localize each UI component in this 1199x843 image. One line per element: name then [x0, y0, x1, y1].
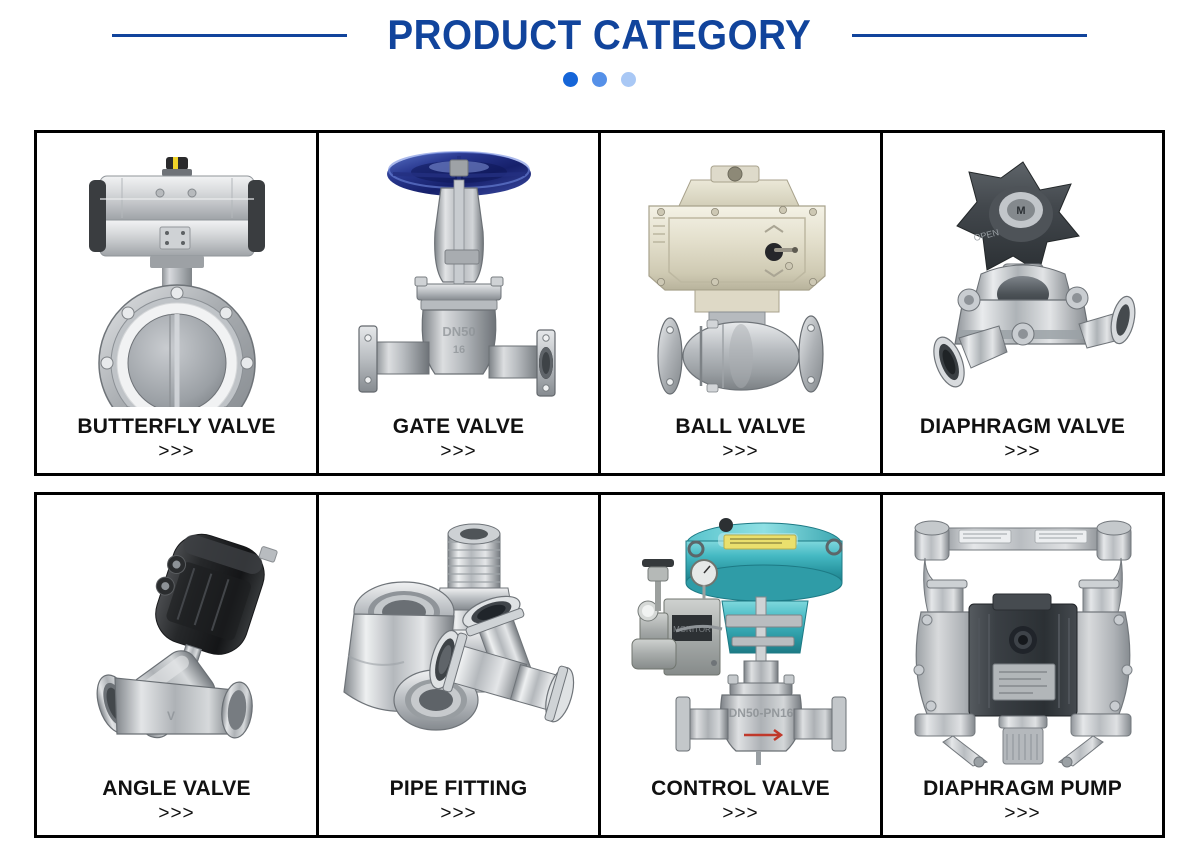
pneumatic-control-valve-icon: MONITOR: [618, 511, 864, 767]
card-more-link[interactable]: >>>: [37, 440, 316, 465]
pneumatic-butterfly-valve-icon: [52, 147, 302, 407]
card-title: BALL VALVE: [601, 414, 880, 440]
ball-valve-image: [601, 133, 880, 414]
category-row-2: V ANGLE VALVE >>>: [34, 492, 1165, 838]
svg-text:DN50: DN50: [442, 324, 475, 339]
pneumatic-angle-seat-valve-icon: V: [59, 508, 295, 770]
category-card-diaphragm-valve[interactable]: M OPEN: [883, 133, 1162, 473]
category-card-diaphragm-pump[interactable]: DIAPHRAGM PUMP >>>: [883, 495, 1162, 835]
electric-actuated-ball-valve-icon: [623, 148, 859, 406]
card-more-link[interactable]: >>>: [883, 440, 1162, 465]
card-title: DIAPHRAGM PUMP: [883, 776, 1162, 802]
diaphragm-valve-image: M OPEN: [883, 133, 1162, 414]
svg-text:V: V: [166, 709, 174, 723]
product-category-page: PRODUCT CATEGORY: [0, 0, 1199, 843]
title-rule-left: [112, 34, 347, 37]
svg-text:DN50-PN16: DN50-PN16: [728, 706, 793, 720]
card-title: CONTROL VALVE: [601, 776, 880, 802]
category-row-1: BUTTERFLY VALVE >>>: [34, 130, 1165, 476]
gate-valve-caption: GATE VALVE >>>: [319, 414, 598, 473]
product-category-grid: BUTTERFLY VALVE >>>: [34, 130, 1165, 838]
angle-valve-caption: ANGLE VALVE >>>: [37, 776, 316, 835]
category-card-gate-valve[interactable]: DN50 16: [319, 133, 601, 473]
carousel-dot-3[interactable]: [621, 72, 636, 87]
carousel-dots[interactable]: [0, 72, 1199, 87]
card-title: PIPE FITTING: [319, 776, 598, 802]
gate-valve-blue-handwheel-icon: DN50 16: [349, 146, 569, 408]
category-card-control-valve[interactable]: MONITOR: [601, 495, 883, 835]
butterfly-valve-caption: BUTTERFLY VALVE >>>: [37, 414, 316, 473]
page-header: PRODUCT CATEGORY: [0, 0, 1199, 118]
air-operated-diaphragm-pump-icon: [901, 508, 1145, 770]
gate-valve-image: DN50 16: [319, 133, 598, 414]
ball-valve-caption: BALL VALVE >>>: [601, 414, 880, 473]
butterfly-valve-image: [37, 133, 316, 414]
diaphragm-pump-caption: DIAPHRAGM PUMP >>>: [883, 776, 1162, 835]
page-title: PRODUCT CATEGORY: [388, 14, 812, 56]
angle-valve-image: V: [37, 495, 316, 776]
pipe-fitting-image: [319, 495, 598, 776]
card-title: GATE VALVE: [319, 414, 598, 440]
category-card-ball-valve[interactable]: BALL VALVE >>>: [601, 133, 883, 473]
sanitary-diaphragm-valve-icon: M OPEN: [903, 148, 1143, 406]
control-valve-image: MONITOR: [601, 495, 880, 776]
title-rule-right: [852, 34, 1087, 37]
category-card-angle-valve[interactable]: V ANGLE VALVE >>>: [37, 495, 319, 835]
pipe-fitting-caption: PIPE FITTING >>>: [319, 776, 598, 835]
card-more-link[interactable]: >>>: [319, 802, 598, 827]
card-more-link[interactable]: >>>: [319, 440, 598, 465]
diaphragm-pump-image: [883, 495, 1162, 776]
control-valve-caption: CONTROL VALVE >>>: [601, 776, 880, 835]
carousel-dot-1[interactable]: [563, 72, 578, 87]
card-more-link[interactable]: >>>: [601, 440, 880, 465]
category-card-pipe-fitting[interactable]: PIPE FITTING >>>: [319, 495, 601, 835]
card-more-link[interactable]: >>>: [601, 802, 880, 827]
title-row: PRODUCT CATEGORY: [0, 8, 1199, 62]
diaphragm-valve-caption: DIAPHRAGM VALVE >>>: [883, 414, 1162, 473]
card-title: DIAPHRAGM VALVE: [883, 414, 1162, 440]
svg-text:M: M: [1016, 205, 1025, 217]
carousel-dot-2[interactable]: [592, 72, 607, 87]
stainless-pipe-fittings-icon: [334, 514, 584, 764]
svg-text:16: 16: [452, 344, 464, 356]
card-more-link[interactable]: >>>: [37, 802, 316, 827]
card-more-link[interactable]: >>>: [883, 802, 1162, 827]
card-title: ANGLE VALVE: [37, 776, 316, 802]
card-title: BUTTERFLY VALVE: [37, 414, 316, 440]
category-card-butterfly-valve[interactable]: BUTTERFLY VALVE >>>: [37, 133, 319, 473]
